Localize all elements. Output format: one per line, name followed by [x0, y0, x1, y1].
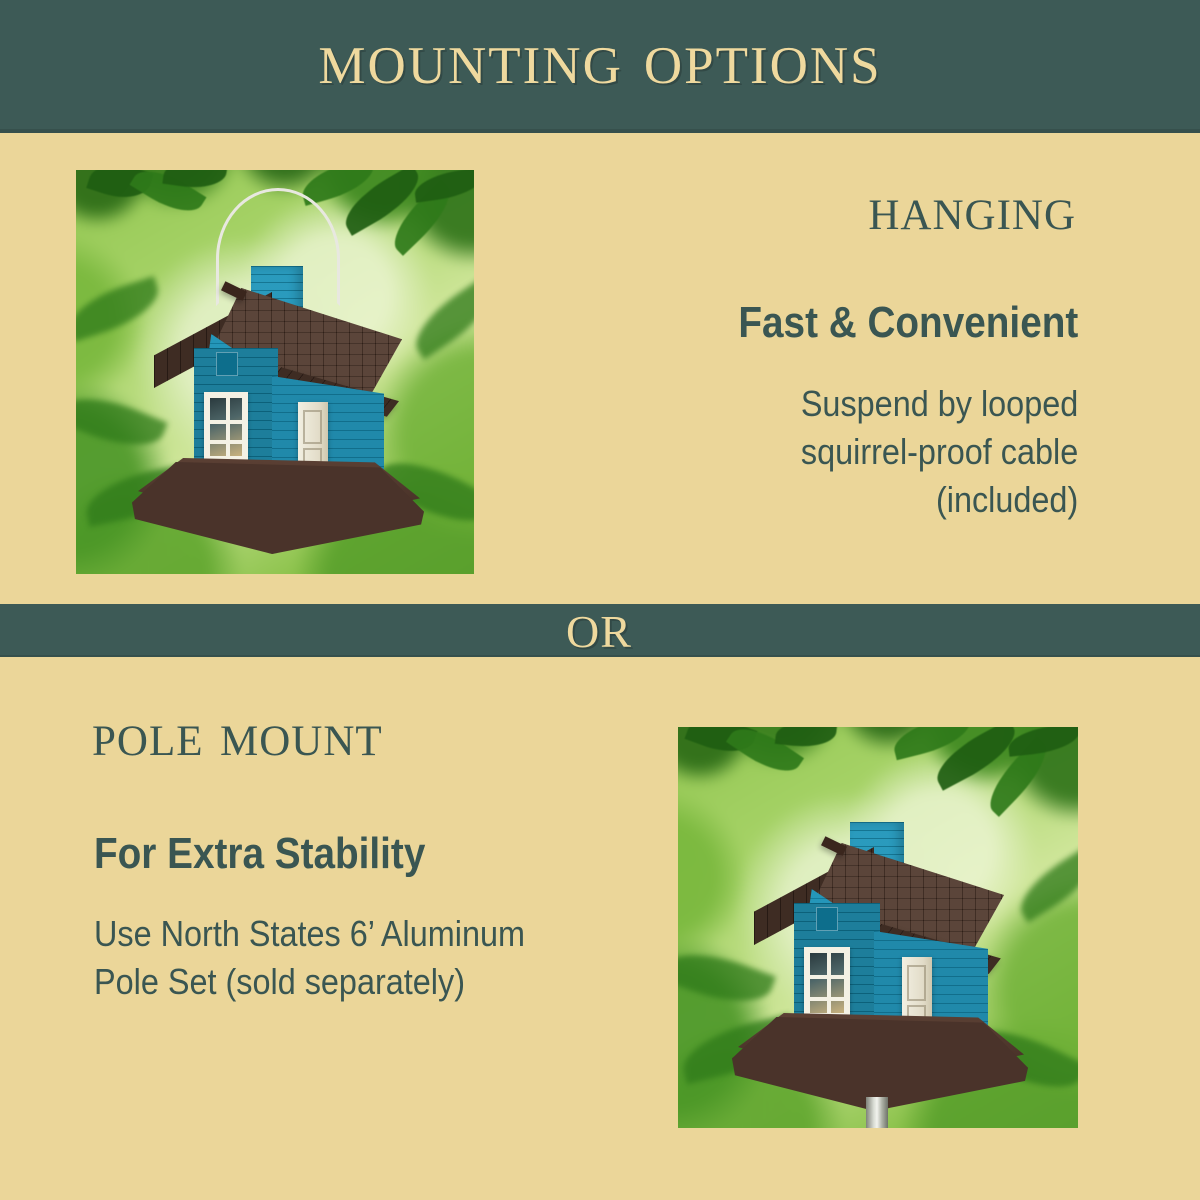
door-panel [303, 410, 322, 444]
pole-mount-body: Use North States 6’ Aluminum Pole Set (s… [94, 910, 525, 1006]
hanging-body-line: (included) [801, 476, 1078, 524]
hanging-body: Suspend by looped squirrel-proof cable (… [801, 380, 1078, 524]
header-band: Mounting Options [0, 0, 1200, 133]
pole-mount-title: Pole Mount [92, 700, 383, 770]
mounting-pole [866, 1097, 888, 1128]
hanging-body-line: Suspend by looped [801, 380, 1078, 428]
pole-mount-subtitle: For Extra Stability [94, 828, 425, 880]
bird-feeder [76, 170, 474, 574]
pole-mount-photo [678, 727, 1078, 1128]
bird-feeder [678, 727, 1078, 1128]
window-mullion-vertical [827, 953, 831, 1013]
pole-mount-body-line: Use North States 6’ Aluminum [94, 910, 525, 958]
pole-mount-body-line: Pole Set (sold separately) [94, 958, 525, 1006]
hanging-body-line: squirrel-proof cable [801, 428, 1078, 476]
roof-ridge [821, 836, 847, 856]
window-mullion-vertical [226, 398, 230, 456]
gable-vent [216, 352, 238, 376]
page-title: Mounting Options [0, 8, 1200, 108]
window [804, 947, 850, 1021]
window [204, 392, 248, 464]
window-mullion-horizontal [810, 975, 844, 979]
or-divider-band: OR [0, 601, 1200, 657]
door-panel [907, 965, 926, 1001]
window-mullion-horizontal [810, 997, 844, 1001]
hanging-photo [76, 170, 474, 574]
hanging-title: Hanging [868, 174, 1076, 244]
window-mullion-horizontal [210, 440, 242, 444]
hanging-subtitle: Fast & Convenient [738, 297, 1078, 349]
seed-tray [132, 462, 424, 554]
gable-vent [816, 907, 838, 931]
or-label: OR [0, 606, 1199, 658]
window-mullion-horizontal [210, 420, 242, 424]
